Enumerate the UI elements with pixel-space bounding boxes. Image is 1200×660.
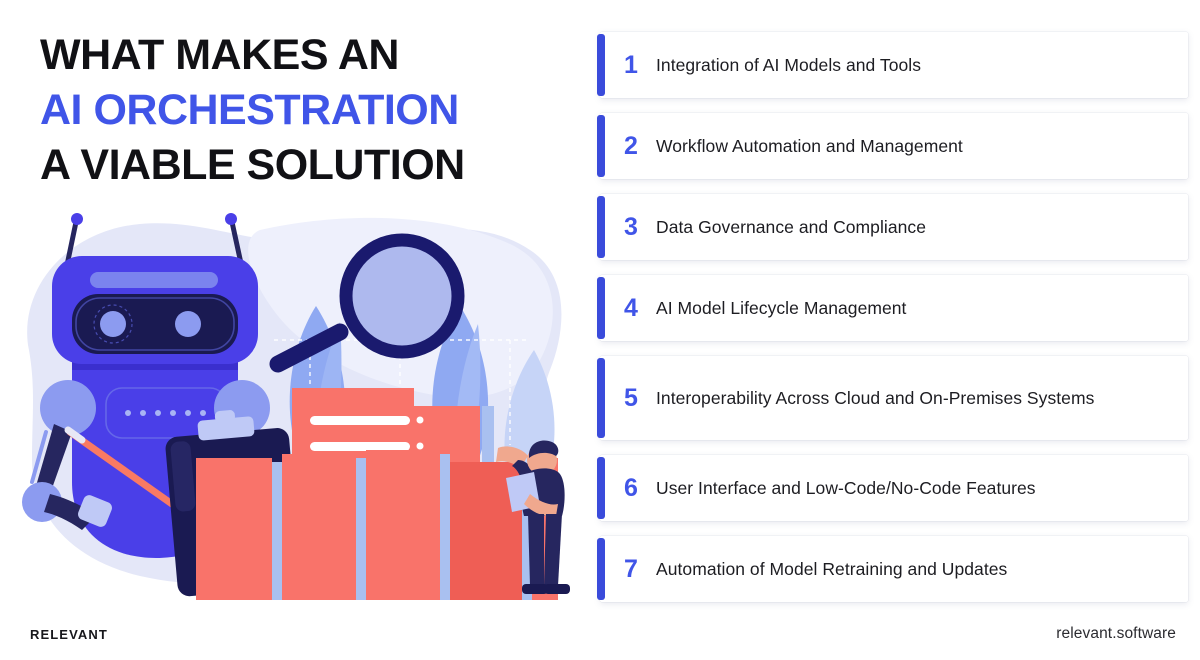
list-item[interactable]: 7 Automation of Model Retraining and Upd… <box>600 536 1188 602</box>
person-shoe-right <box>544 584 570 594</box>
robot-visor <box>72 294 238 354</box>
list-item-label: Integration of AI Models and Tools <box>656 53 1170 77</box>
list-item-number: 1 <box>600 53 656 78</box>
folder-tab-3 <box>440 454 450 600</box>
website-url: relevant.software <box>1056 625 1176 643</box>
folder-tab-1 <box>272 462 282 600</box>
list-item[interactable]: 3 Data Governance and Compliance <box>600 194 1188 260</box>
list-item[interactable]: 1 Integration of AI Models and Tools <box>600 32 1188 98</box>
hero-illustration <box>10 210 580 610</box>
accent-bar <box>597 34 605 96</box>
folder-2 <box>282 454 356 600</box>
robot-head-shine <box>90 272 218 288</box>
list-item[interactable]: 4 AI Model Lifecycle Management <box>600 275 1188 341</box>
list-item-number: 7 <box>600 557 656 582</box>
brand-logo: RELEVANT <box>30 627 108 642</box>
feature-list: 1 Integration of AI Models and Tools 2 W… <box>600 14 1188 624</box>
antenna-ball-left <box>71 213 83 225</box>
list-item-number: 3 <box>600 215 656 240</box>
list-item-number: 5 <box>600 386 656 411</box>
list-item-label: Data Governance and Compliance <box>656 215 1170 239</box>
headline-line-1: WHAT MAKES AN <box>40 28 560 83</box>
list-item[interactable]: 5 Interoperability Across Cloud and On-P… <box>600 356 1188 440</box>
folder-1 <box>196 458 272 600</box>
folder-3 <box>366 450 440 600</box>
list-item[interactable]: 2 Workflow Automation and Management <box>600 113 1188 179</box>
accent-bar <box>597 538 605 600</box>
illustration-svg <box>10 210 580 610</box>
robot-eye-right <box>175 311 201 337</box>
infographic-page: WHAT MAKES AN AI ORCHESTRATION A VIABLE … <box>0 0 1200 660</box>
headline-line-3: A VIABLE SOLUTION <box>40 138 560 193</box>
accent-bar <box>597 277 605 339</box>
list-item-label: Interoperability Across Cloud and On-Pre… <box>656 386 1170 410</box>
antenna-ball-right <box>225 213 237 225</box>
list-item-number: 6 <box>600 476 656 501</box>
magnifier-lens <box>346 240 458 352</box>
person-leg-right <box>544 514 562 586</box>
headline-line-2: AI ORCHESTRATION <box>40 83 560 138</box>
accent-bar <box>597 115 605 177</box>
list-item-number: 4 <box>600 296 656 321</box>
robot-eye-left <box>100 311 126 337</box>
list-item-label: Workflow Automation and Management <box>656 134 1170 158</box>
accent-bar <box>597 196 605 258</box>
list-item-label: Automation of Model Retraining and Updat… <box>656 557 1170 581</box>
folder-tab-2 <box>356 458 366 600</box>
page-title: WHAT MAKES AN AI ORCHESTRATION A VIABLE … <box>40 28 560 193</box>
person-leg-left <box>528 514 544 586</box>
folder-stack-front <box>196 450 558 600</box>
accent-bar <box>597 358 605 438</box>
list-item[interactable]: 6 User Interface and Low-Code/No-Code Fe… <box>600 455 1188 521</box>
accent-bar <box>597 457 605 519</box>
left-column: WHAT MAKES AN AI ORCHESTRATION A VIABLE … <box>0 0 580 660</box>
list-item-number: 2 <box>600 134 656 159</box>
list-item-label: User Interface and Low-Code/No-Code Feat… <box>656 476 1170 500</box>
list-item-label: AI Model Lifecycle Management <box>656 296 1170 320</box>
